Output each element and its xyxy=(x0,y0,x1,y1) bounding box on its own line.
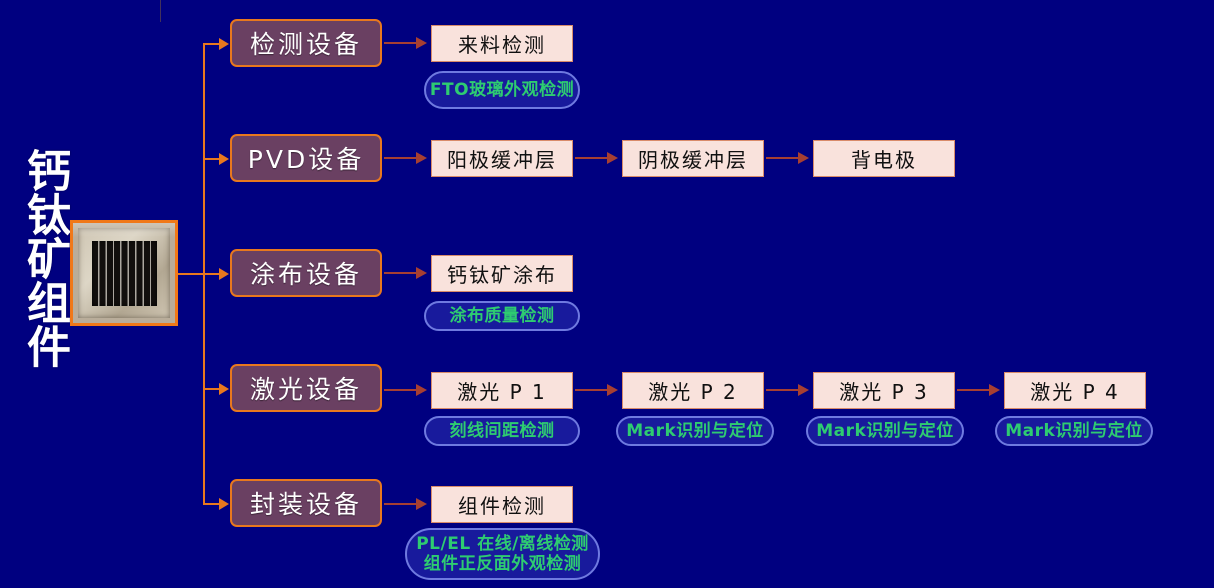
diagram-canvas: 钙钛矿组件 检测设备 来料检测 FTO玻璃外观检测 PVD设备 阳极缓冲层 阴极… xyxy=(0,0,1214,588)
branch-arrow-5 xyxy=(219,498,229,510)
branch-arrow-2 xyxy=(219,153,229,165)
arrow-line-r2-p1 xyxy=(384,157,418,159)
process-box-r2-1[interactable]: 阳极缓冲层 xyxy=(431,140,573,177)
equipment-box-3[interactable]: 涂布设备 xyxy=(230,249,382,297)
process-box-r4-3[interactable]: 激光 P 3 xyxy=(813,372,955,409)
product-photo xyxy=(70,220,178,326)
arrow-head-r2-p1 xyxy=(416,152,427,164)
inspection-pill-r4-4[interactable]: Mark识别与定位 xyxy=(995,416,1153,446)
inspection-pill-r4-4-line1: Mark识别与定位 xyxy=(1005,421,1143,441)
arrow-head-r2-p3 xyxy=(798,152,809,164)
branch-arrow-4 xyxy=(219,383,229,395)
inspection-pill-r4-1-line1: 刻线间距检测 xyxy=(450,421,555,441)
arrow-head-r4-p4 xyxy=(989,384,1000,396)
branch-arrow-3 xyxy=(219,268,229,280)
inspection-pill-r1-1[interactable]: FTO玻璃外观检测 xyxy=(424,71,580,109)
page-title: 钙钛矿组件 xyxy=(8,148,70,368)
process-box-r2-3[interactable]: 背电极 xyxy=(813,140,955,177)
inspection-pill-r5-1-line2: 组件正反面外观检测 xyxy=(424,554,582,574)
equipment-box-5[interactable]: 封装设备 xyxy=(230,479,382,527)
arrow-line-r4-p4 xyxy=(957,389,991,391)
arrow-line-r2-p3 xyxy=(766,157,800,159)
equipment-box-4[interactable]: 激光设备 xyxy=(230,364,382,412)
equipment-box-2[interactable]: PVD设备 xyxy=(230,134,382,182)
process-box-r2-2[interactable]: 阴极缓冲层 xyxy=(622,140,764,177)
equipment-box-1[interactable]: 检测设备 xyxy=(230,19,382,67)
process-box-r4-1[interactable]: 激光 P 1 xyxy=(431,372,573,409)
inspection-pill-r3-1-line1: 涂布质量检测 xyxy=(450,306,555,326)
arrow-line-r5-p1 xyxy=(384,503,418,505)
inspection-pill-r1-1-line1: FTO玻璃外观检测 xyxy=(430,80,574,100)
inspection-pill-r5-1[interactable]: PL/EL 在线/离线检测 组件正反面外观检测 xyxy=(405,528,600,580)
arrow-head-r5-p1 xyxy=(416,498,427,510)
process-box-r4-4[interactable]: 激光 P 4 xyxy=(1004,372,1146,409)
arrow-head-r3-p1 xyxy=(416,267,427,279)
branch-arrow-1 xyxy=(219,38,229,50)
arrow-head-r2-p2 xyxy=(607,152,618,164)
arrow-head-r1-p1 xyxy=(416,37,427,49)
arrow-head-r4-p3 xyxy=(798,384,809,396)
process-box-r1-1[interactable]: 来料检测 xyxy=(431,25,573,62)
photo-glare xyxy=(73,223,175,237)
arrow-line-r3-p1 xyxy=(384,272,418,274)
arrow-line-r1-p1 xyxy=(384,42,418,44)
arrow-head-r4-p2 xyxy=(607,384,618,396)
inspection-pill-r3-1[interactable]: 涂布质量检测 xyxy=(424,301,580,331)
inspection-pill-r4-2[interactable]: Mark识别与定位 xyxy=(616,416,774,446)
photo-solar-cell xyxy=(92,241,157,306)
arrow-head-r4-p1 xyxy=(416,384,427,396)
inspection-pill-r4-3[interactable]: Mark识别与定位 xyxy=(806,416,964,446)
arrow-line-r4-p2 xyxy=(575,389,609,391)
photo-frame xyxy=(78,228,170,318)
photo-to-trunk-connector xyxy=(178,273,205,275)
inspection-pill-r4-2-line1: Mark识别与定位 xyxy=(626,421,764,441)
background-artifact-line xyxy=(160,0,161,22)
photo-cell-stripes xyxy=(92,241,157,306)
process-box-r4-2[interactable]: 激光 P 2 xyxy=(622,372,764,409)
inspection-pill-r4-1[interactable]: 刻线间距检测 xyxy=(424,416,580,446)
process-box-r5-1[interactable]: 组件检测 xyxy=(431,486,573,523)
inspection-pill-r5-1-line1: PL/EL 在线/离线检测 xyxy=(416,534,589,554)
arrow-line-r4-p3 xyxy=(766,389,800,391)
process-box-r3-1[interactable]: 钙钛矿涂布 xyxy=(431,255,573,292)
inspection-pill-r4-3-line1: Mark识别与定位 xyxy=(816,421,954,441)
arrow-line-r4-p1 xyxy=(384,389,418,391)
arrow-line-r2-p2 xyxy=(575,157,609,159)
